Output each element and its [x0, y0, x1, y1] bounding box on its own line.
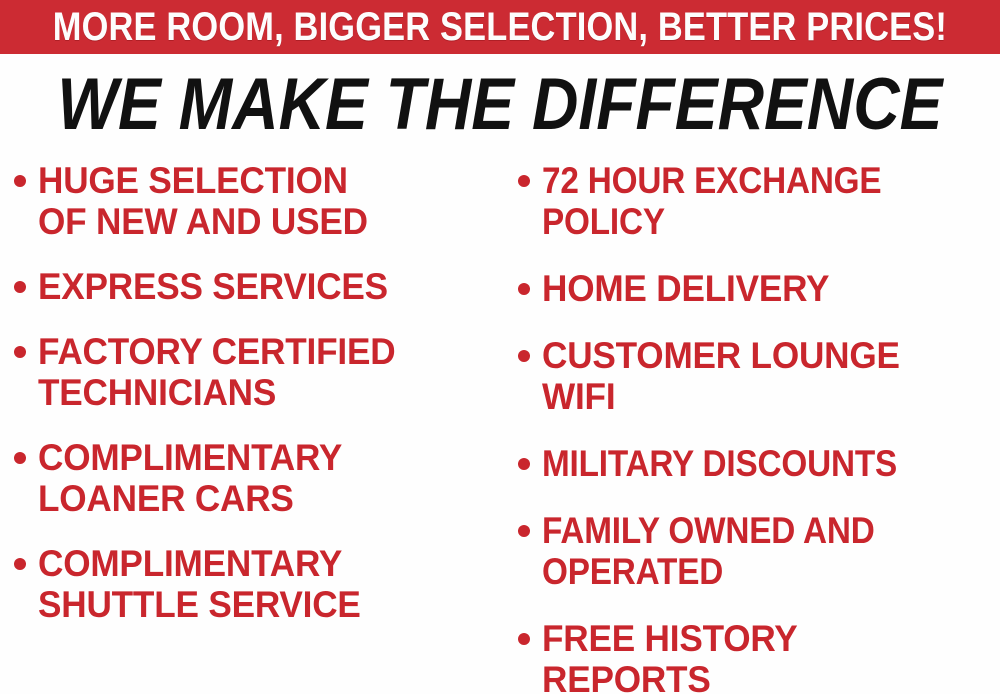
- list-item: HOME DELIVERY: [518, 268, 1000, 309]
- bullet-dot-icon: [14, 175, 26, 187]
- list-item-label: FACTORY CERTIFIED TECHNICIANS: [38, 331, 471, 413]
- bullet-dot-icon: [518, 458, 530, 470]
- list-item: HUGE SELECTION OF NEW AND USED: [14, 160, 494, 242]
- list-item: FACTORY CERTIFIED TECHNICIANS: [14, 331, 494, 413]
- list-item: MILITARY DISCOUNTS: [518, 443, 1000, 484]
- bullet-dot-icon: [518, 175, 530, 187]
- list-item-label: 72 HOUR EXCHANGE POLICY: [542, 160, 954, 242]
- dealership-promo-poster: MORE ROOM, BIGGER SELECTION, BETTER PRIC…: [0, 0, 1000, 694]
- bullet-dot-icon: [14, 346, 26, 358]
- bullet-dot-icon: [518, 283, 530, 295]
- bullet-dot-icon: [518, 525, 530, 537]
- list-item-label: COMPLIMENTARY LOANER CARS: [38, 437, 471, 519]
- bullet-dot-icon: [14, 558, 26, 570]
- list-item: COMPLIMENTARY LOANER CARS: [14, 437, 494, 519]
- top-banner: MORE ROOM, BIGGER SELECTION, BETTER PRIC…: [0, 0, 1000, 54]
- headline-container: WE MAKE THE DIFFERENCE: [0, 64, 1000, 144]
- list-item: EXPRESS SERVICES: [14, 266, 494, 307]
- list-item-label: HUGE SELECTION OF NEW AND USED: [38, 160, 471, 242]
- bullet-dot-icon: [518, 633, 530, 645]
- list-item-label: FREE HISTORY REPORTS: [542, 618, 977, 694]
- bullet-dot-icon: [14, 281, 26, 293]
- benefits-column-right: 72 HOUR EXCHANGE POLICY HOME DELIVERY CU…: [518, 160, 1000, 694]
- list-item-label: FAMILY OWNED AND OPERATED: [542, 510, 954, 592]
- benefits-column-left: HUGE SELECTION OF NEW AND USED EXPRESS S…: [14, 160, 494, 694]
- list-item: 72 HOUR EXCHANGE POLICY: [518, 160, 1000, 242]
- list-item-label: EXPRESS SERVICES: [38, 266, 471, 307]
- list-item-label: MILITARY DISCOUNTS: [542, 443, 954, 484]
- list-item: FREE HISTORY REPORTS: [518, 618, 1000, 694]
- banner-headline-text: MORE ROOM, BIGGER SELECTION, BETTER PRIC…: [53, 7, 947, 47]
- list-item: COMPLIMENTARY SHUTTLE SERVICE: [14, 543, 494, 625]
- list-item: CUSTOMER LOUNGE WIFI: [518, 335, 1000, 417]
- list-item-label: CUSTOMER LOUNGE WIFI: [542, 335, 977, 417]
- page-title: WE MAKE THE DIFFERENCE: [57, 68, 942, 141]
- bullet-dot-icon: [518, 350, 530, 362]
- bullet-dot-icon: [14, 452, 26, 464]
- list-item-label: HOME DELIVERY: [542, 268, 977, 309]
- benefits-columns: HUGE SELECTION OF NEW AND USED EXPRESS S…: [0, 160, 1000, 694]
- list-item-label: COMPLIMENTARY SHUTTLE SERVICE: [38, 543, 471, 625]
- list-item: FAMILY OWNED AND OPERATED: [518, 510, 1000, 592]
